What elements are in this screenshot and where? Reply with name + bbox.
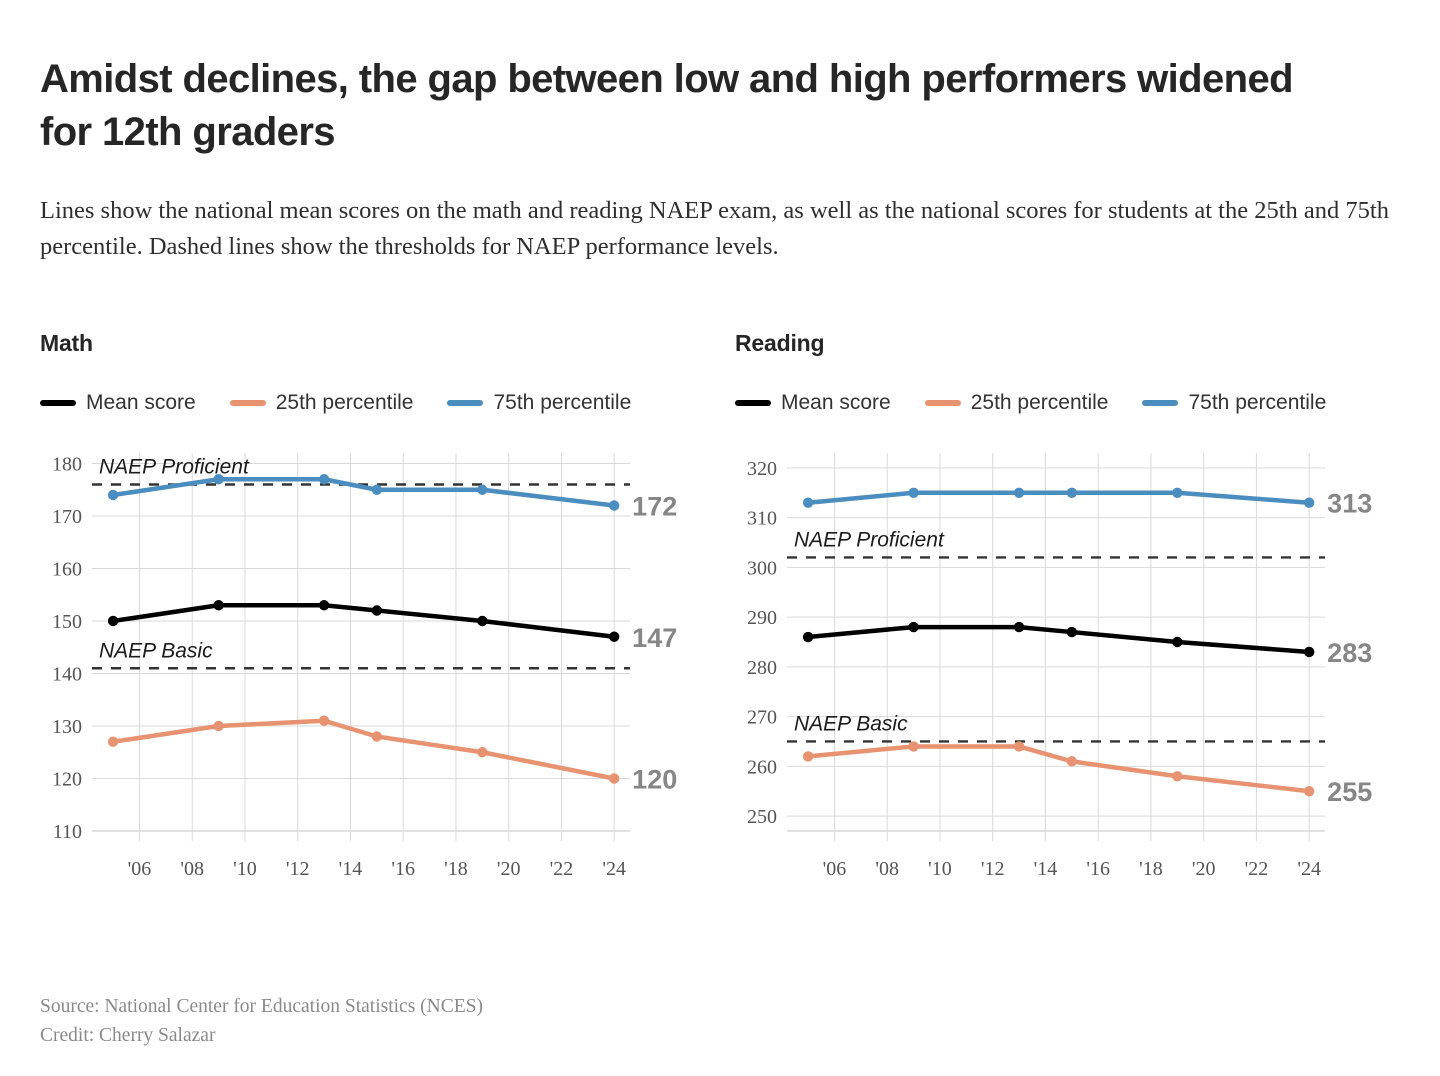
end-value-label-p25: 255 xyxy=(1327,777,1372,807)
end-value-label-mean: 147 xyxy=(632,623,677,653)
chart-title-math: Math xyxy=(40,330,700,357)
x-tick-label: '20 xyxy=(1192,858,1216,880)
data-point-p25 xyxy=(319,716,329,726)
x-tick-label: '16 xyxy=(391,858,415,880)
legend-item-75th-percentile[interactable]: 75th percentile xyxy=(1142,391,1326,415)
series-line-p75 xyxy=(808,493,1309,503)
data-point-mean xyxy=(108,616,118,626)
x-tick-label: '20 xyxy=(497,858,521,880)
y-tick-label: 300 xyxy=(747,557,777,579)
data-point-p75 xyxy=(1304,498,1314,508)
legend-swatch-75th-percentile xyxy=(1142,400,1178,406)
infographic-page: Amidst declines, the gap between low and… xyxy=(0,0,1440,1076)
x-tick-label: '08 xyxy=(875,858,899,880)
y-tick-label: 110 xyxy=(53,821,82,843)
end-value-label-p25: 120 xyxy=(632,765,677,795)
end-value-label-mean: 283 xyxy=(1327,638,1372,668)
data-point-mean xyxy=(213,600,223,610)
data-point-p75 xyxy=(477,485,487,495)
legend-label-75th-percentile: 75th percentile xyxy=(1188,391,1326,415)
legend-item-mean-score[interactable]: Mean score xyxy=(40,391,196,415)
data-point-p25 xyxy=(1014,741,1024,751)
threshold-label: NAEP Proficient xyxy=(794,528,945,551)
data-point-p75 xyxy=(108,490,118,500)
credit-text: Credit: Cherry Salazar xyxy=(40,1021,483,1050)
data-point-p75 xyxy=(803,498,813,508)
threshold-label: NAEP Basic xyxy=(794,712,908,735)
series-line-p75 xyxy=(113,479,614,505)
chart-legend-reading: Mean score 25th percentile 75th percenti… xyxy=(735,391,1395,415)
chart-svg-math: '06'08'10'12'14'16'18'20'22'241801701601… xyxy=(40,431,700,901)
x-tick-label: '06 xyxy=(823,858,847,880)
legend-item-25th-percentile[interactable]: 25th percentile xyxy=(230,391,414,415)
y-tick-label: 150 xyxy=(52,611,82,633)
data-point-mean xyxy=(1014,622,1024,632)
y-tick-label: 260 xyxy=(747,756,777,778)
legend-item-75th-percentile[interactable]: 75th percentile xyxy=(447,391,631,415)
data-point-p75 xyxy=(1014,488,1024,498)
footer: Source: National Center for Education St… xyxy=(40,992,483,1051)
y-tick-label: 160 xyxy=(52,559,82,581)
x-tick-label: '08 xyxy=(180,858,204,880)
threshold-label: NAEP Basic xyxy=(99,639,213,662)
legend-label-75th-percentile: 75th percentile xyxy=(493,391,631,415)
y-tick-label: 170 xyxy=(52,506,82,528)
x-tick-label: '22 xyxy=(550,858,574,880)
y-tick-label: 290 xyxy=(747,607,777,629)
data-point-p75 xyxy=(609,500,619,510)
y-tick-label: 140 xyxy=(52,664,82,686)
x-tick-label: '10 xyxy=(928,858,952,880)
data-point-p25 xyxy=(609,773,619,783)
data-point-p25 xyxy=(803,751,813,761)
chart-legend-math: Mean score 25th percentile 75th percenti… xyxy=(40,391,700,415)
y-tick-label: 270 xyxy=(747,707,777,729)
y-tick-label: 120 xyxy=(52,769,82,791)
legend-item-mean-score[interactable]: Mean score xyxy=(735,391,891,415)
data-point-mean xyxy=(1172,637,1182,647)
x-tick-label: '22 xyxy=(1245,858,1269,880)
data-point-mean xyxy=(1067,627,1077,637)
data-point-mean xyxy=(1304,647,1314,657)
data-point-p25 xyxy=(213,721,223,731)
legend-swatch-mean-score xyxy=(40,400,76,406)
chart-svg-reading: '06'08'10'12'14'16'18'20'22'243203103002… xyxy=(735,431,1395,901)
x-tick-label: '12 xyxy=(286,858,310,880)
data-point-p25 xyxy=(372,731,382,741)
x-tick-label: '18 xyxy=(1139,858,1163,880)
chart-panel-reading: Reading Mean score 25th percentile 75th … xyxy=(735,330,1395,901)
y-tick-label: 280 xyxy=(747,657,777,679)
x-tick-label: '14 xyxy=(339,858,363,880)
series-line-p25 xyxy=(113,721,614,779)
x-tick-label: '18 xyxy=(444,858,468,880)
data-point-p25 xyxy=(108,737,118,747)
data-point-mean xyxy=(803,632,813,642)
x-tick-label: '24 xyxy=(1297,858,1321,880)
data-point-mean xyxy=(477,616,487,626)
x-tick-label: '06 xyxy=(128,858,152,880)
data-point-p25 xyxy=(1172,771,1182,781)
plot-area-reading: '06'08'10'12'14'16'18'20'22'243203103002… xyxy=(735,431,1395,901)
data-point-mean xyxy=(319,600,329,610)
data-point-p25 xyxy=(908,741,918,751)
data-point-p75 xyxy=(319,474,329,484)
legend-swatch-25th-percentile xyxy=(925,400,961,406)
series-line-p25 xyxy=(808,746,1309,791)
end-value-label-p75: 313 xyxy=(1327,489,1372,519)
y-tick-label: 250 xyxy=(747,806,777,828)
legend-swatch-mean-score xyxy=(735,400,771,406)
data-point-p25 xyxy=(1304,786,1314,796)
y-tick-label: 320 xyxy=(747,458,777,480)
chart-title-reading: Reading xyxy=(735,330,1395,357)
legend-item-25th-percentile[interactable]: 25th percentile xyxy=(925,391,1109,415)
x-tick-label: '12 xyxy=(981,858,1005,880)
series-line-mean xyxy=(808,627,1309,652)
chart-panel-math: Math Mean score 25th percentile 75th per… xyxy=(40,330,700,901)
page-title: Amidst declines, the gap between low and… xyxy=(40,53,1300,159)
y-tick-label: 310 xyxy=(747,508,777,530)
data-point-mean xyxy=(372,605,382,615)
y-tick-label: 180 xyxy=(52,454,82,476)
threshold-label: NAEP Proficient xyxy=(99,456,250,479)
data-point-p75 xyxy=(213,474,223,484)
legend-label-25th-percentile: 25th percentile xyxy=(276,391,414,415)
end-value-label-p75: 172 xyxy=(632,492,677,522)
data-point-p25 xyxy=(477,747,487,757)
source-text: Source: National Center for Education St… xyxy=(40,992,483,1021)
data-point-p75 xyxy=(908,488,918,498)
data-point-p75 xyxy=(1172,488,1182,498)
plot-area-math: '06'08'10'12'14'16'18'20'22'241801701601… xyxy=(40,431,700,901)
legend-swatch-75th-percentile xyxy=(447,400,483,406)
legend-swatch-25th-percentile xyxy=(230,400,266,406)
x-tick-label: '10 xyxy=(233,858,257,880)
x-tick-label: '24 xyxy=(602,858,626,880)
legend-label-mean-score: Mean score xyxy=(781,391,891,415)
x-tick-label: '16 xyxy=(1086,858,1110,880)
data-point-p75 xyxy=(372,485,382,495)
y-tick-label: 130 xyxy=(52,716,82,738)
data-point-mean xyxy=(908,622,918,632)
legend-label-mean-score: Mean score xyxy=(86,391,196,415)
data-point-p25 xyxy=(1067,756,1077,766)
data-point-mean xyxy=(609,632,619,642)
data-point-p75 xyxy=(1067,488,1077,498)
legend-label-25th-percentile: 25th percentile xyxy=(971,391,1109,415)
x-tick-label: '14 xyxy=(1034,858,1058,880)
page-subtitle: Lines show the national mean scores on t… xyxy=(40,193,1405,266)
